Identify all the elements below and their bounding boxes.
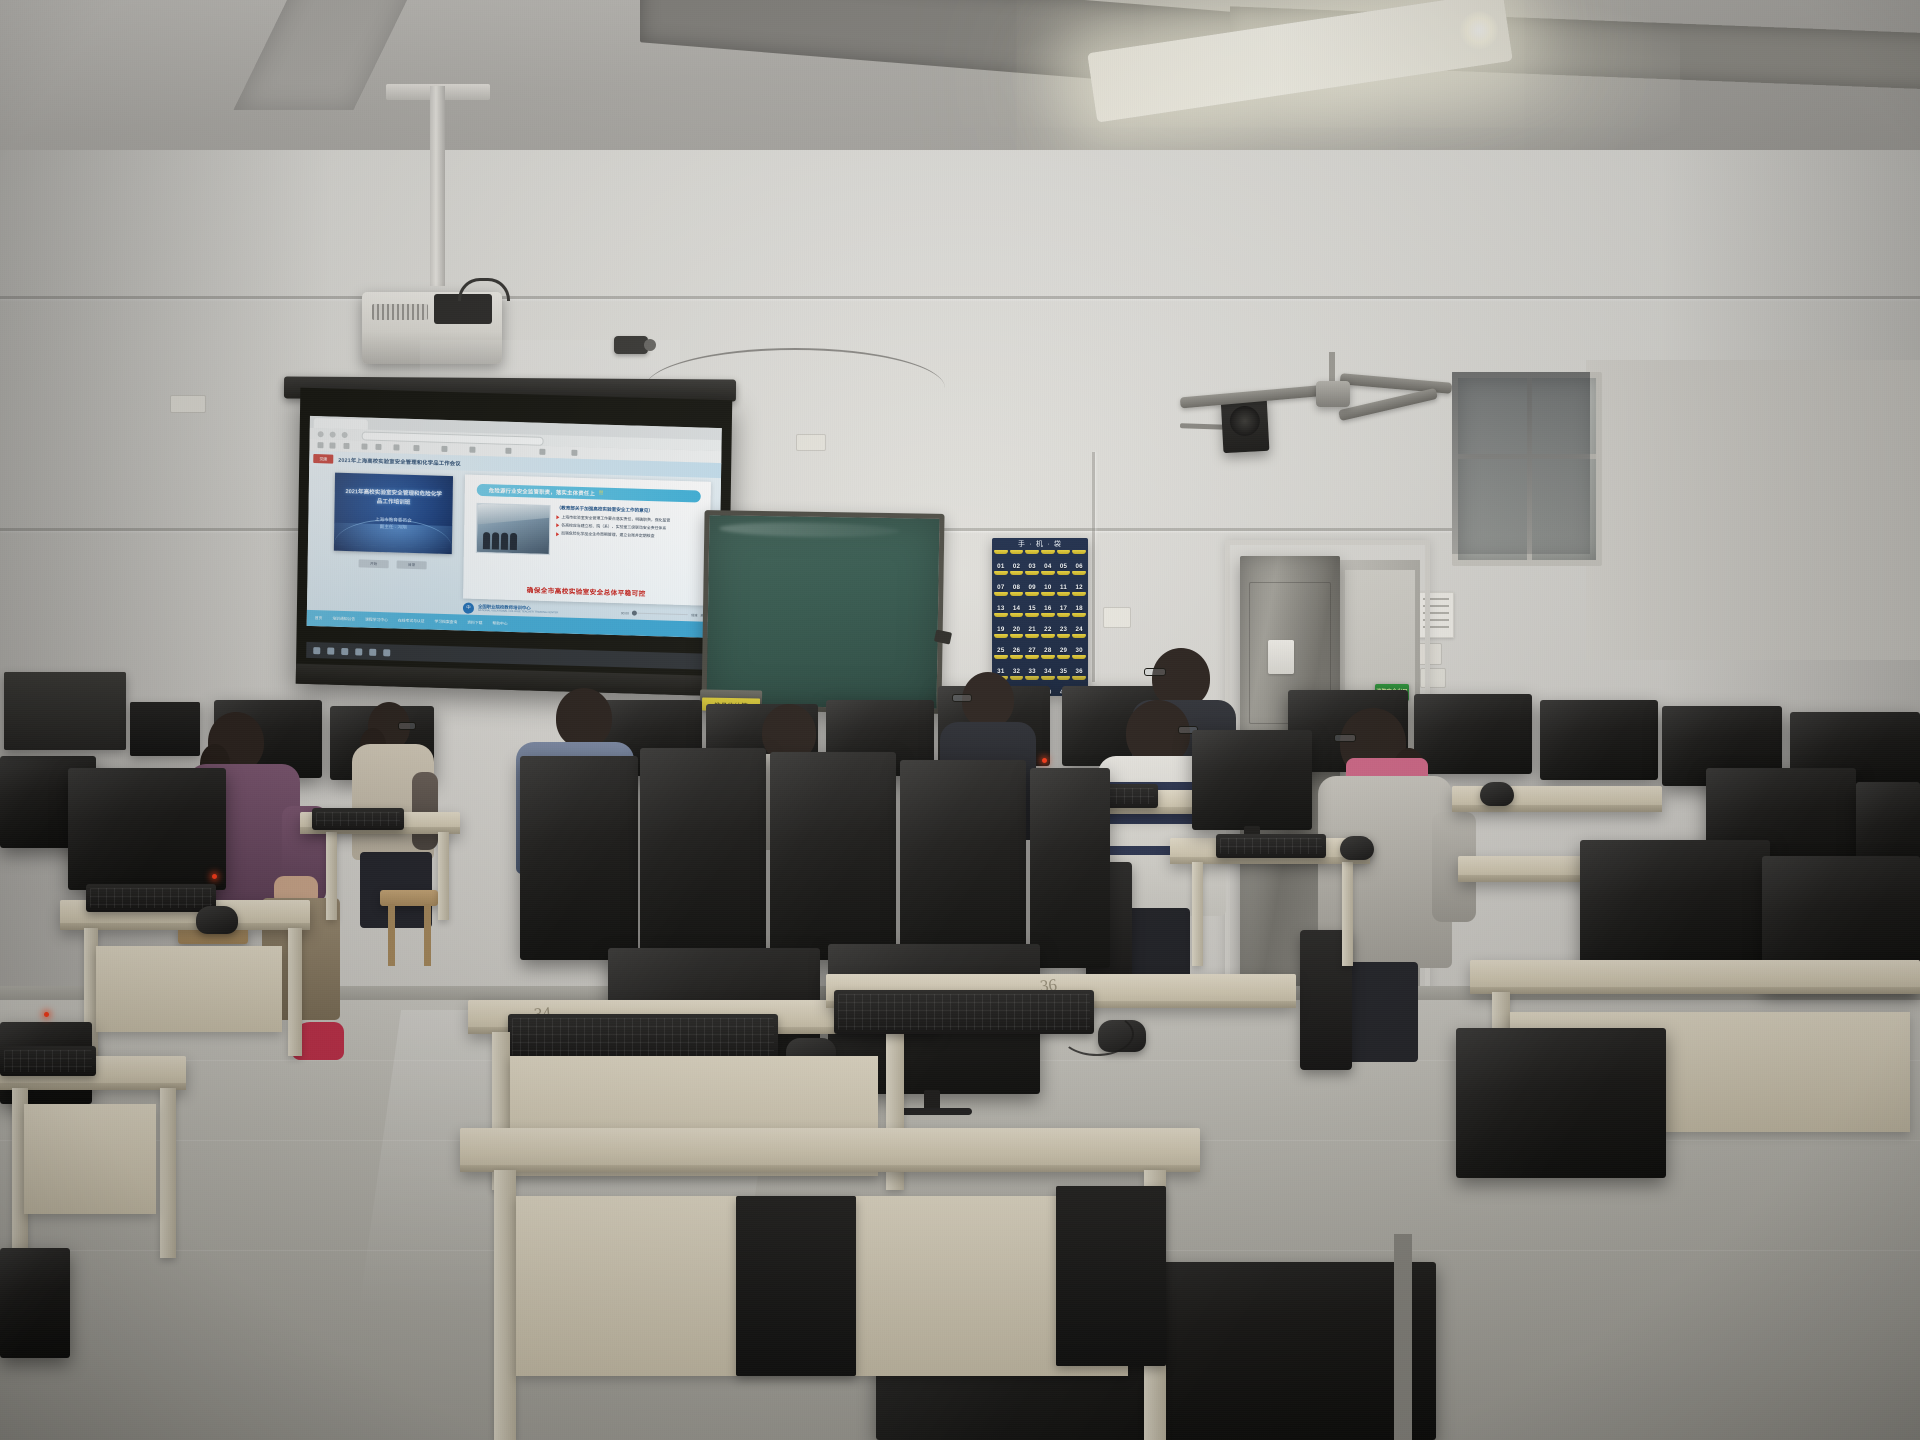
taskbar-start-icon[interactable] xyxy=(313,647,320,654)
monitor xyxy=(520,756,638,960)
keyboard[interactable] xyxy=(86,884,216,912)
taskbar-browser-icon[interactable] xyxy=(341,647,348,654)
pocket-slot[interactable]: 05 xyxy=(1056,550,1072,571)
pocket-slot-number: 08 xyxy=(1013,584,1020,591)
slide-photo-people xyxy=(483,532,517,550)
pocket-slot-number: 11 xyxy=(1060,584,1067,591)
pocket-slot[interactable]: 26 xyxy=(1009,634,1025,655)
desk-leg xyxy=(326,832,337,920)
slide-photo xyxy=(476,503,551,555)
ceiling-projector xyxy=(362,292,502,364)
slide-banner-mark: !! xyxy=(599,491,603,497)
slide-bullet-item: 加强危险化学品全生命周期管理，建立台账并定期核查 xyxy=(556,531,702,541)
toolbar-icon-6[interactable] xyxy=(393,444,399,450)
pocket-slot-number: 10 xyxy=(1044,584,1051,591)
pocket-slot[interactable]: 06 xyxy=(1071,550,1087,571)
keyboard[interactable] xyxy=(0,1046,96,1076)
monitor-power-led xyxy=(212,874,217,879)
projection-screen: 党建 2021年上海高校实验室安全管理和化学品工作会议 2021年高校实验室安全… xyxy=(296,388,733,697)
pocket-slot-number: 13 xyxy=(997,605,1004,612)
ceiling-fan-motor xyxy=(1316,381,1350,407)
taskbar-media-icon[interactable] xyxy=(355,648,362,655)
pocket-slot-number: 28 xyxy=(1044,647,1051,654)
pocket-slot[interactable]: 32 xyxy=(1009,655,1025,676)
keyboard-keys xyxy=(4,1050,92,1072)
pocket-slot-number: 12 xyxy=(1076,584,1083,591)
bullet-marker-icon xyxy=(556,515,559,519)
wall-outlet-center xyxy=(1103,607,1131,628)
door-sticker xyxy=(1268,640,1294,674)
player-time: 00:00 xyxy=(621,611,629,615)
slide-banner-text: 危险源行业安全监管职责，落实主体责任上 xyxy=(489,486,595,497)
wall-plate-center xyxy=(796,434,826,451)
glasses-icon xyxy=(1144,668,1166,676)
person-arm xyxy=(412,772,438,850)
desktop-tower xyxy=(1056,1186,1166,1366)
desk-leg xyxy=(494,1170,516,1440)
pocket-slot[interactable]: 36 xyxy=(1071,655,1087,676)
glasses-icon xyxy=(952,694,972,702)
pocket-slot[interactable]: 11 xyxy=(1056,571,1072,592)
pocket-slot-number: 02 xyxy=(1013,563,1020,570)
pocket-slot[interactable]: 08 xyxy=(1009,571,1025,592)
keyboard-keys xyxy=(1220,838,1322,854)
monitor xyxy=(1540,700,1658,780)
taskbar-chat-icon[interactable] xyxy=(369,648,376,655)
pocket-slot-number: 18 xyxy=(1076,605,1083,612)
wall-seam-vertical xyxy=(1092,452,1095,682)
classroom-photo: 党建 2021年上海高校实验室安全管理和化学品工作会议 2021年高校实验室安全… xyxy=(0,0,1920,1440)
presentation-body: 2021年高校实验室安全管理和危险化学 品工作培训班 上海市教育委员会 副主任 … xyxy=(307,466,721,638)
keyboard[interactable] xyxy=(312,808,404,830)
window-mullion-horizontal xyxy=(1458,454,1596,459)
monitor xyxy=(1580,840,1770,970)
desk xyxy=(1470,960,1920,994)
slide-banner: 危险源行业安全监管职责，落实主体责任上 !! xyxy=(477,484,701,503)
pocket-slot[interactable]: 29 xyxy=(1056,634,1072,655)
pocket-slot[interactable]: 28 xyxy=(1040,634,1056,655)
nav-item-exams[interactable]: 在线考试与认证 xyxy=(398,618,425,624)
pocket-slot[interactable]: 30 xyxy=(1071,634,1087,655)
browser-reload-icon[interactable] xyxy=(342,432,348,438)
mouse[interactable] xyxy=(1340,836,1374,860)
pocket-slot[interactable]: 34 xyxy=(1040,655,1056,676)
pocket-slot[interactable]: 27 xyxy=(1024,634,1040,655)
org-logo-icon: 党建 xyxy=(313,454,333,464)
toolbar-icon-1[interactable] xyxy=(317,442,323,448)
desk-leg xyxy=(160,1088,176,1258)
toolbar-icon-3[interactable] xyxy=(343,443,349,449)
pocket-chart-title: 手 · 机 · 袋 xyxy=(992,538,1088,550)
pocket-slot-number: 14 xyxy=(1013,605,1020,612)
mouse[interactable] xyxy=(1480,782,1514,806)
desk-edge xyxy=(1470,987,1920,994)
stool-leg xyxy=(424,904,431,966)
nav-item-help[interactable]: 帮助中心 xyxy=(492,621,507,626)
pocket-slot[interactable]: 02 xyxy=(1009,550,1025,571)
pocket-slot-number: 29 xyxy=(1060,647,1067,654)
pocket-slot-number: 20 xyxy=(1013,626,1020,633)
player-speed[interactable]: 倍速 xyxy=(691,612,697,617)
toolbar-icon-8[interactable] xyxy=(441,446,447,452)
pocket-slot[interactable]: 13 xyxy=(993,592,1009,613)
pocket-slot[interactable]: 17 xyxy=(1056,592,1072,613)
monitor xyxy=(640,748,766,962)
desk xyxy=(460,1128,1200,1172)
nav-item-downloads[interactable]: 资料下载 xyxy=(467,620,482,625)
toolbar-icon-5[interactable] xyxy=(375,444,381,450)
pocket-slot[interactable]: 03 xyxy=(1024,550,1040,571)
pocket-slot-number: 21 xyxy=(1029,626,1036,633)
pocket-slot-number: 25 xyxy=(997,647,1004,654)
monitor xyxy=(0,1248,70,1358)
person-head xyxy=(1152,648,1210,708)
footer-badge-icon: 中 xyxy=(463,602,474,613)
slide-thumb-subtitle: 上海市教育委员会 副主任 · 冯翔 xyxy=(334,515,452,533)
taskbar-mail-icon[interactable] xyxy=(383,649,390,656)
toolbar-icon-7[interactable] xyxy=(413,445,419,451)
stool-leg xyxy=(388,904,395,966)
slide-thumbnail[interactable]: 2021年高校实验室安全管理和危险化学 品工作培训班 上海市教育委员会 副主任 … xyxy=(334,473,453,554)
pocket-slot[interactable]: 20 xyxy=(1009,613,1025,634)
desk-leg xyxy=(1192,862,1203,966)
pocket-slot-number: 05 xyxy=(1060,563,1067,570)
slide-main-panel: 危险源行业安全监管职责，落实主体责任上 !! （教育部关于加强高校实验室安全工作… xyxy=(463,475,711,606)
bullet-marker-icon xyxy=(556,524,559,528)
right-wall xyxy=(1586,360,1920,660)
pocket-slot-number: 35 xyxy=(1060,668,1067,675)
pocket-slot[interactable]: 01 xyxy=(993,550,1009,571)
chalkboard xyxy=(701,510,944,714)
wall-sensor xyxy=(614,336,648,354)
pocket-slot[interactable]: 19 xyxy=(993,613,1009,634)
monitor-power-led xyxy=(1042,758,1047,763)
window-mullion-vertical xyxy=(1527,378,1532,560)
taskbar-folder-icon[interactable] xyxy=(327,647,334,654)
desk-modesty-panel xyxy=(96,946,282,1032)
projector-mount-pole xyxy=(430,86,445,286)
pocket-slot[interactable]: 22 xyxy=(1040,613,1056,634)
desk-leg xyxy=(438,832,449,920)
glasses-icon xyxy=(1334,734,1356,742)
desk-leg xyxy=(288,928,302,1056)
monitor-power-led xyxy=(44,1012,49,1017)
pocket-slot-number: 23 xyxy=(1060,626,1067,633)
pocket-slot[interactable]: 23 xyxy=(1056,613,1072,634)
browser-forward-icon[interactable] xyxy=(330,431,336,437)
pocket-slot[interactable]: 33 xyxy=(1024,655,1040,676)
desk-edge xyxy=(1452,805,1662,812)
keyboard-keys xyxy=(90,888,212,908)
chalk-smudge xyxy=(719,521,899,538)
pocket-slot[interactable]: 21 xyxy=(1024,613,1040,634)
desk-modesty-panel xyxy=(24,1104,156,1214)
pocket-slot-number: 06 xyxy=(1076,563,1083,570)
pocket-slot-number: 04 xyxy=(1044,563,1051,570)
pocket-slot-number: 33 xyxy=(1029,668,1036,675)
pocket-slot[interactable]: 09 xyxy=(1024,571,1040,592)
desktop-tower xyxy=(736,1196,856,1376)
projected-image-area: 党建 2021年上海高校实验室安全管理和化学品工作会议 2021年高校实验室安全… xyxy=(307,416,722,638)
window xyxy=(1452,372,1602,566)
keyboard-keys xyxy=(838,994,1090,1030)
monitor xyxy=(1192,730,1312,830)
pocket-slot-number: 19 xyxy=(997,626,1004,633)
slide-photo-ceiling xyxy=(476,503,551,525)
toolbar-icon-12[interactable] xyxy=(571,450,577,456)
presentation-header-title: 2021年上海高校实验室安全管理和化学品工作会议 xyxy=(338,455,461,467)
slide-bullet-list: （教育部关于加强高校实验室安全工作的意见） 上海市实验室安全管理工作要点落实责任… xyxy=(556,505,702,543)
pocket-slot-number: 32 xyxy=(1013,668,1020,675)
keyboard-keys xyxy=(512,1018,774,1056)
projector-vents xyxy=(372,304,428,320)
equipment-cabinet xyxy=(4,672,126,750)
pocket-slot-number: 03 xyxy=(1029,563,1036,570)
toolbar-icon-2[interactable] xyxy=(329,442,335,448)
glasses-icon xyxy=(398,722,416,730)
pocket-slot[interactable]: 24 xyxy=(1071,613,1087,634)
browser-back-icon[interactable] xyxy=(318,431,324,437)
pocket-slot[interactable]: 10 xyxy=(1040,571,1056,592)
toolbar-icon-4[interactable] xyxy=(361,443,367,449)
pocket-slot-number: 36 xyxy=(1076,668,1083,675)
mouse[interactable] xyxy=(196,906,238,934)
pocket-slot-number: 27 xyxy=(1029,647,1036,654)
pocket-slot-number: 24 xyxy=(1076,626,1083,633)
slide-start-button[interactable]: 开始 xyxy=(359,559,389,568)
pocket-slot-number: 26 xyxy=(1013,647,1020,654)
monitor xyxy=(68,768,226,890)
monitor xyxy=(900,760,1026,966)
pocket-slot[interactable]: 16 xyxy=(1040,592,1056,613)
pocket-chart-grid: 0102030405060708091011121314151617181920… xyxy=(992,550,1088,696)
pocket-slot-number: 15 xyxy=(1029,605,1036,612)
keyboard[interactable] xyxy=(834,990,1094,1034)
slide-toc-button[interactable]: 目录 xyxy=(397,561,427,570)
nav-item-courses[interactable]: 课程学习中心 xyxy=(365,617,388,623)
keyboard[interactable] xyxy=(1216,834,1326,858)
toolbar-icon-11[interactable] xyxy=(539,449,545,455)
nav-item-notices[interactable]: 培训通知公告 xyxy=(332,616,355,622)
person-head xyxy=(556,688,612,748)
slide-red-headline: 确保全市高校实验室安全总体平稳可控 xyxy=(463,583,709,600)
equipment-box xyxy=(130,702,200,756)
ceiling-fan-rod xyxy=(1329,352,1335,384)
pocket-slot-number: 17 xyxy=(1060,605,1067,612)
wall-plate-left xyxy=(170,395,206,413)
monitor xyxy=(1030,768,1110,968)
pocket-slot-number: 09 xyxy=(1029,584,1036,591)
pocket-slot[interactable]: 04 xyxy=(1040,550,1056,571)
pocket-slot[interactable]: 35 xyxy=(1056,655,1072,676)
pocket-slot[interactable]: 14 xyxy=(1009,592,1025,613)
pocket-slot[interactable]: 07 xyxy=(993,571,1009,592)
pocket-slot[interactable]: 25 xyxy=(993,634,1009,655)
pocket-slot[interactable]: 12 xyxy=(1071,571,1087,592)
keyboard[interactable] xyxy=(508,1014,778,1060)
nav-item-home[interactable]: 首页 xyxy=(315,616,323,621)
pocket-slot-number: 34 xyxy=(1044,668,1051,675)
presentation-page: 党建 2021年上海高校实验室安全管理和化学品工作会议 2021年高校实验室安全… xyxy=(307,451,722,638)
desk-edge xyxy=(460,1165,1200,1172)
monitor xyxy=(1414,694,1532,774)
keyboard-keys xyxy=(316,812,400,826)
pocket-slot-number: 01 xyxy=(997,563,1004,570)
toolbar-icon-10[interactable] xyxy=(505,448,511,454)
bullet-marker-icon xyxy=(556,532,559,536)
footer-org-name: 全国职业院校教师培训中心 NATIONAL VOCATIONAL COLLEGE… xyxy=(478,604,558,615)
desk-support-post xyxy=(1394,1234,1412,1440)
pocket-slot-number: 30 xyxy=(1076,647,1083,654)
pocket-slot-number: 16 xyxy=(1044,605,1051,612)
slide-thumb-title: 2021年高校实验室安全管理和危险化学 品工作培训班 xyxy=(335,488,453,509)
pocket-slot-number: 22 xyxy=(1044,626,1051,633)
pocket-slot-number: 07 xyxy=(997,584,1004,591)
slide-thumb-buttons: 开始 目录 xyxy=(334,557,452,572)
phone-pocket-chart: 手 · 机 · 袋 010203040506070809101112131415… xyxy=(992,538,1088,696)
toolbar-icon-9[interactable] xyxy=(469,447,475,453)
player-progress-slider[interactable] xyxy=(632,612,688,615)
monitor xyxy=(770,752,896,960)
desk-leg xyxy=(1342,862,1353,966)
pocket-slot[interactable]: 15 xyxy=(1024,592,1040,613)
nav-item-records[interactable]: 学习档案查询 xyxy=(434,619,457,625)
mouse-cable xyxy=(1060,1012,1134,1056)
pocket-slot[interactable]: 18 xyxy=(1071,592,1087,613)
monitor-base xyxy=(896,1108,972,1115)
monitor xyxy=(1456,1028,1666,1178)
